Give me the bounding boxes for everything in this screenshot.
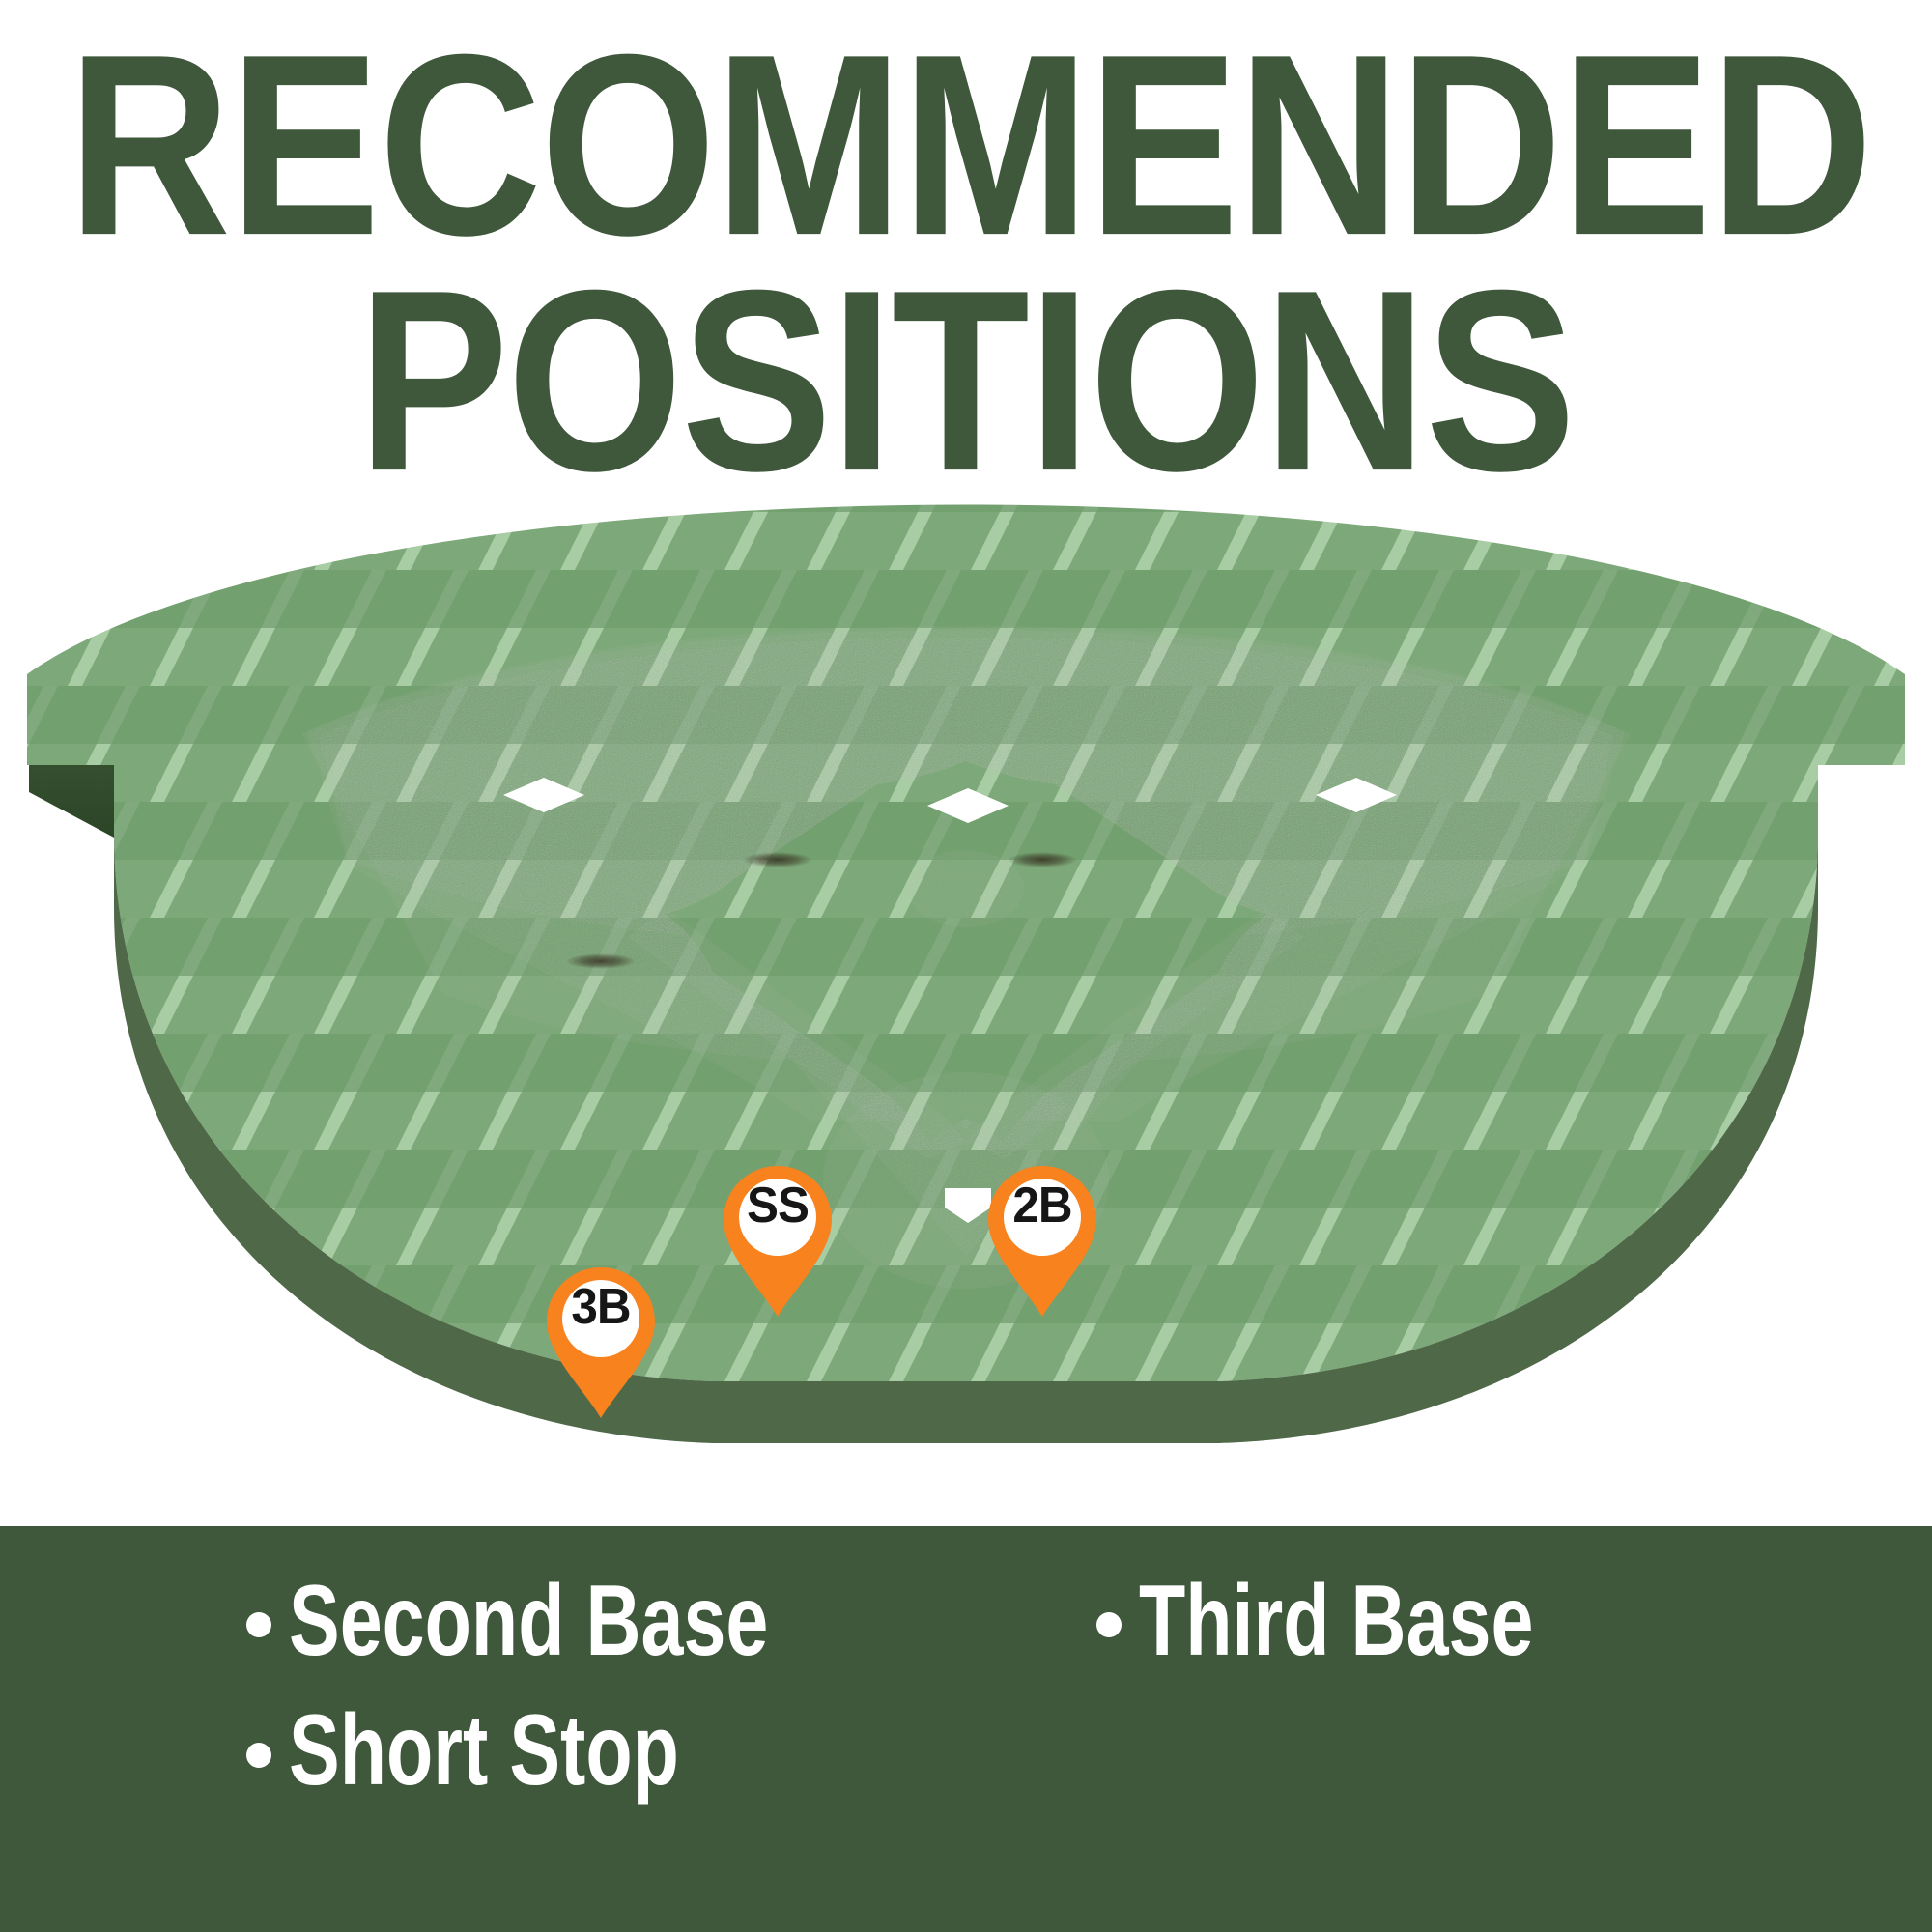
shadow-2b [1008, 852, 1077, 867]
bullet-dot-icon [1096, 1612, 1122, 1637]
field-marker-shortstop[interactable]: SS [722, 1164, 834, 1319]
pin-label-ss: SS [724, 1176, 831, 1236]
list-item[interactable]: Short Stop [246, 1694, 1096, 1806]
pin-label-2b: 2B [989, 1176, 1095, 1236]
positions-row-2: Short Stop [246, 1694, 1792, 1824]
poster-canvas: RECOMMENDED POSITIONS [0, 0, 1932, 1932]
baseball-field-illustration: SS 2B 3B [0, 454, 1932, 1517]
shadow-ss [743, 852, 812, 867]
list-item[interactable]: Second Base [246, 1565, 1096, 1677]
positions-list: Second Base Third Base Short Stop [246, 1565, 1792, 1825]
pin-label-3b: 3B [548, 1277, 654, 1337]
positions-column-left-2: Short Stop [246, 1694, 1096, 1824]
position-label-third-base: Third Base [1139, 1565, 1533, 1677]
positions-column-right: Third Base [1096, 1565, 1773, 1694]
title-line-recommended: RECOMMENDED [68, 27, 1864, 265]
pitchers-mound [908, 850, 1024, 927]
field-svg [0, 454, 1932, 1517]
field-marker-third-base[interactable]: 3B [545, 1265, 657, 1420]
positions-column-left: Second Base [246, 1565, 1096, 1694]
page-title: RECOMMENDED POSITIONS [0, 27, 1932, 487]
bullet-dot-icon [246, 1612, 271, 1637]
bullet-dot-icon [246, 1743, 271, 1768]
position-label-short-stop: Short Stop [289, 1694, 679, 1806]
field-marker-second-base[interactable]: 2B [986, 1164, 1098, 1319]
shadow-3b [566, 953, 636, 969]
positions-banner: Second Base Third Base Short Stop [0, 1526, 1932, 1932]
position-label-second-base: Second Base [289, 1565, 768, 1677]
list-item[interactable]: Third Base [1096, 1565, 1773, 1677]
positions-row-1: Second Base Third Base [246, 1565, 1792, 1694]
